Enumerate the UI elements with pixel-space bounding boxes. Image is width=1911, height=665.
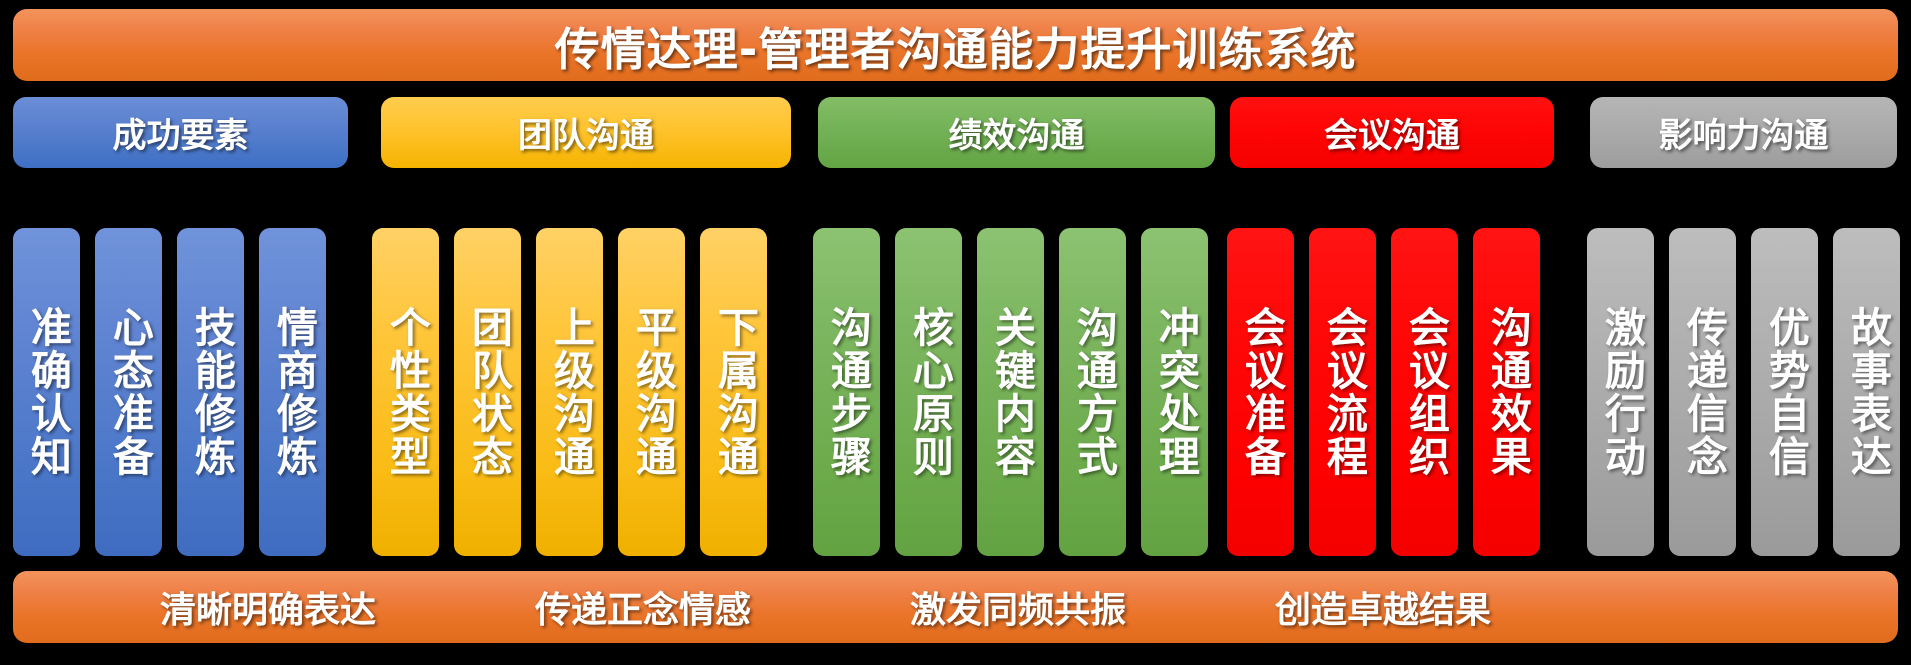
topic-card-label: 会议准备 — [1239, 306, 1283, 478]
category-header-2[interactable]: 团队沟通 — [381, 97, 791, 168]
topic-card[interactable]: 传递信念 — [1669, 228, 1736, 556]
topic-card-label: 心态准备 — [107, 306, 151, 478]
topic-card[interactable]: 个性类型 — [372, 228, 439, 556]
topic-card-label: 优势自信 — [1763, 306, 1807, 478]
category-header-label: 会议沟通 — [1324, 108, 1460, 157]
category-header-label: 绩效沟通 — [949, 108, 1085, 157]
topic-card[interactable]: 会议流程 — [1309, 228, 1376, 556]
topic-card-label: 个性类型 — [384, 306, 428, 478]
footer-bar: 清晰明确表达传递正念情感激发同频共振创造卓越结果 — [13, 571, 1898, 643]
topic-card[interactable]: 情商修炼 — [259, 228, 326, 556]
footer-item: 激发同频共振 — [838, 571, 1198, 643]
footer-item: 清晰明确表达 — [88, 571, 448, 643]
topic-card[interactable]: 沟通步骤 — [813, 228, 880, 556]
topic-card[interactable]: 准确认知 — [13, 228, 80, 556]
topic-card-label: 激励行动 — [1599, 306, 1643, 478]
topic-card-label: 下属沟通 — [712, 306, 756, 478]
title-bar: 传情达理-管理者沟通能力提升训练系统 — [13, 9, 1898, 81]
category-header-4[interactable]: 会议沟通 — [1230, 97, 1554, 168]
category-header-label: 影响力沟通 — [1659, 108, 1829, 157]
category-header-label: 成功要素 — [113, 108, 249, 157]
category-header-label: 团队沟通 — [518, 108, 654, 157]
topic-card-label: 会议组织 — [1403, 306, 1447, 478]
topic-card-label: 沟通方式 — [1071, 306, 1115, 478]
topic-card-label: 沟通步骤 — [825, 306, 869, 478]
topic-card-label: 上级沟通 — [548, 306, 592, 478]
topic-card-label: 传递信念 — [1681, 306, 1725, 478]
topic-card-label: 团队状态 — [466, 306, 510, 478]
category-header-3[interactable]: 绩效沟通 — [818, 97, 1215, 168]
topic-card-label: 会议流程 — [1321, 306, 1365, 478]
topic-card[interactable]: 沟通效果 — [1473, 228, 1540, 556]
topic-card[interactable]: 核心原则 — [895, 228, 962, 556]
topic-card-label: 故事表达 — [1845, 306, 1889, 478]
topic-card[interactable]: 会议准备 — [1227, 228, 1294, 556]
topic-card[interactable]: 优势自信 — [1751, 228, 1818, 556]
topic-card[interactable]: 心态准备 — [95, 228, 162, 556]
topic-card[interactable]: 故事表达 — [1833, 228, 1900, 556]
topic-card-label: 技能修炼 — [189, 306, 233, 478]
topic-card[interactable]: 下属沟通 — [700, 228, 767, 556]
topic-card[interactable]: 技能修炼 — [177, 228, 244, 556]
footer-item: 传递正念情感 — [463, 571, 823, 643]
category-header-5[interactable]: 影响力沟通 — [1590, 97, 1897, 168]
poster-canvas: 传情达理-管理者沟通能力提升训练系统 成功要素团队沟通绩效沟通会议沟通影响力沟通… — [0, 0, 1911, 665]
topic-card[interactable]: 激励行动 — [1587, 228, 1654, 556]
topic-card[interactable]: 关键内容 — [977, 228, 1044, 556]
topic-card-label: 冲突处理 — [1153, 306, 1197, 478]
category-header-1[interactable]: 成功要素 — [13, 97, 348, 168]
topic-card[interactable]: 上级沟通 — [536, 228, 603, 556]
page-title: 传情达理-管理者沟通能力提升训练系统 — [555, 13, 1357, 78]
topic-card[interactable]: 会议组织 — [1391, 228, 1458, 556]
topic-card[interactable]: 团队状态 — [454, 228, 521, 556]
topic-card[interactable]: 冲突处理 — [1141, 228, 1208, 556]
topic-card-label: 平级沟通 — [630, 306, 674, 478]
topic-card-label: 情商修炼 — [271, 306, 315, 478]
topic-card-label: 准确认知 — [25, 306, 69, 478]
topic-card[interactable]: 平级沟通 — [618, 228, 685, 556]
category-header-row: 成功要素团队沟通绩效沟通会议沟通影响力沟通 — [0, 97, 1911, 173]
footer-item: 创造卓越结果 — [1203, 571, 1563, 643]
topic-card-label: 沟通效果 — [1485, 306, 1529, 478]
topic-card-label: 核心原则 — [907, 306, 951, 478]
card-row: 准确认知心态准备技能修炼情商修炼个性类型团队状态上级沟通平级沟通下属沟通沟通步骤… — [0, 228, 1911, 556]
topic-card-label: 关键内容 — [989, 306, 1033, 478]
topic-card[interactable]: 沟通方式 — [1059, 228, 1126, 556]
